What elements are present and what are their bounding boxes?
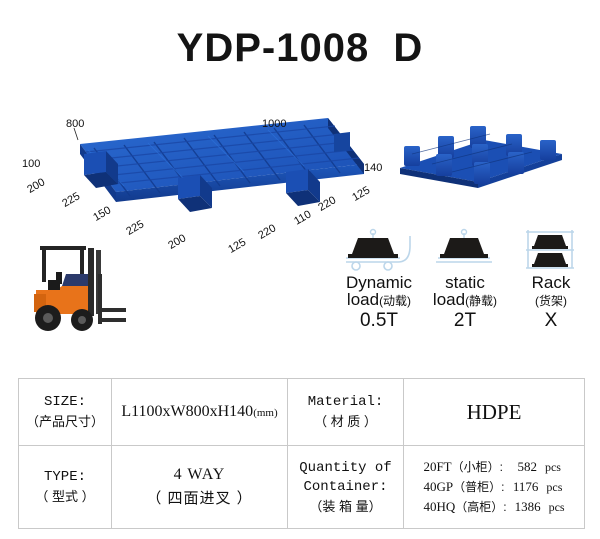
cell-size-value: L1100xW800xH140(mm) <box>112 379 288 446</box>
size-key-en: SIZE: <box>19 393 111 412</box>
forklift-photo <box>22 234 130 342</box>
cell-material-key: Material: （ 材 质 ） <box>288 379 404 446</box>
container-unit: pcs <box>546 478 562 497</box>
container-type-cn: （普柜）: <box>453 480 504 494</box>
dimension-label: 140 <box>364 162 382 174</box>
load-label-line1: Rack <box>508 274 594 291</box>
dimension-label: 100 <box>22 158 40 170</box>
load-label-line1: Dynamic <box>336 274 422 291</box>
container-count: 582 <box>503 457 537 476</box>
load-value: 0.5T <box>336 310 422 332</box>
container-unit: pcs <box>545 458 561 477</box>
cell-quantity-value: 20FT（小柜）:582pcs40GP（普柜）:1176pcs40HQ（高柜）:… <box>404 446 585 529</box>
container-quantity-row: 40HQ（高柜）:1386pcs <box>423 497 564 517</box>
size-key-cn: （产品尺寸） <box>19 412 111 431</box>
load-spec-dynamic: Dynamic load(动载) 0.5T <box>336 228 422 332</box>
container-count: 1176 <box>504 477 538 496</box>
container-count: 1386 <box>507 497 541 516</box>
quantity-key-cn: （装 箱 量） <box>288 497 403 516</box>
quantity-key-en-line1: Quantity of <box>288 459 403 478</box>
table-row: SIZE: （产品尺寸） L1100xW800xH140(mm) Materia… <box>19 379 585 446</box>
container-type-cn: （小柜）: <box>452 460 503 474</box>
type-key-en: TYPE: <box>19 468 111 487</box>
page-title: YDP-1008 D <box>0 26 600 71</box>
cell-size-key: SIZE: （产品尺寸） <box>19 379 112 446</box>
load-label-line2: (货架) <box>508 291 594 310</box>
cell-type-key: TYPE: （ 型式 ） <box>19 446 112 529</box>
type-value-cn: （ 四面进叉 ） <box>112 487 287 511</box>
load-spec-static: static load(静载) 2T <box>422 228 508 332</box>
load-label-line2: load(动载) <box>336 291 422 310</box>
load-value: 2T <box>422 310 508 332</box>
material-key-cn: （ 材 质 ） <box>288 412 403 431</box>
specification-table: SIZE: （产品尺寸） L1100xW800xH140(mm) Materia… <box>18 378 585 529</box>
cell-type-value: 4 WAY （ 四面进叉 ） <box>112 446 288 529</box>
container-unit: pcs <box>549 498 565 517</box>
container-quantity-row: 40GP（普柜）:1176pcs <box>423 477 564 497</box>
container-quantity-list: 20FT（小柜）:582pcs40GP（普柜）:1176pcs40HQ（高柜）:… <box>423 457 564 517</box>
container-quantity-row: 20FT（小柜）:582pcs <box>423 457 564 477</box>
quantity-key-en-line2: Container: <box>288 478 403 497</box>
table-row: TYPE: （ 型式 ） 4 WAY （ 四面进叉 ） Quantity of … <box>19 446 585 529</box>
cell-quantity-key: Quantity of Container: （装 箱 量） <box>288 446 404 529</box>
container-type: 20FT <box>423 457 451 476</box>
container-type: 40HQ <box>423 497 455 516</box>
type-value-en: 4 WAY <box>112 463 287 487</box>
dimension-label: 800 <box>66 118 84 130</box>
container-type: 40GP <box>423 477 453 496</box>
dimension-label: 1000 <box>262 118 286 130</box>
load-label-line1: static <box>422 274 508 291</box>
size-value: L1100xW800xH140(mm) <box>112 401 287 424</box>
load-capacity-group: Dynamic load(动载) 0.5T static load(静载) <box>336 228 594 338</box>
material-key-en: Material: <box>288 393 403 412</box>
rack-load-icon <box>508 228 594 274</box>
load-spec-rack: Rack (货架) X <box>508 228 594 332</box>
static-pallet-load-icon <box>422 228 508 274</box>
illustration-area: 8001000100140200225150225200125220110220… <box>0 96 600 352</box>
hand-truck-load-icon <box>336 228 422 274</box>
load-label-line2: load(静载) <box>422 291 508 310</box>
cell-material-value: HDPE <box>404 379 585 446</box>
container-type-cn: （高柜）: <box>455 500 506 514</box>
type-key-cn: （ 型式 ） <box>19 487 111 506</box>
pallet-bottom-isometric-view <box>392 110 568 202</box>
load-value: X <box>508 310 594 332</box>
material-value: HDPE <box>404 400 584 425</box>
